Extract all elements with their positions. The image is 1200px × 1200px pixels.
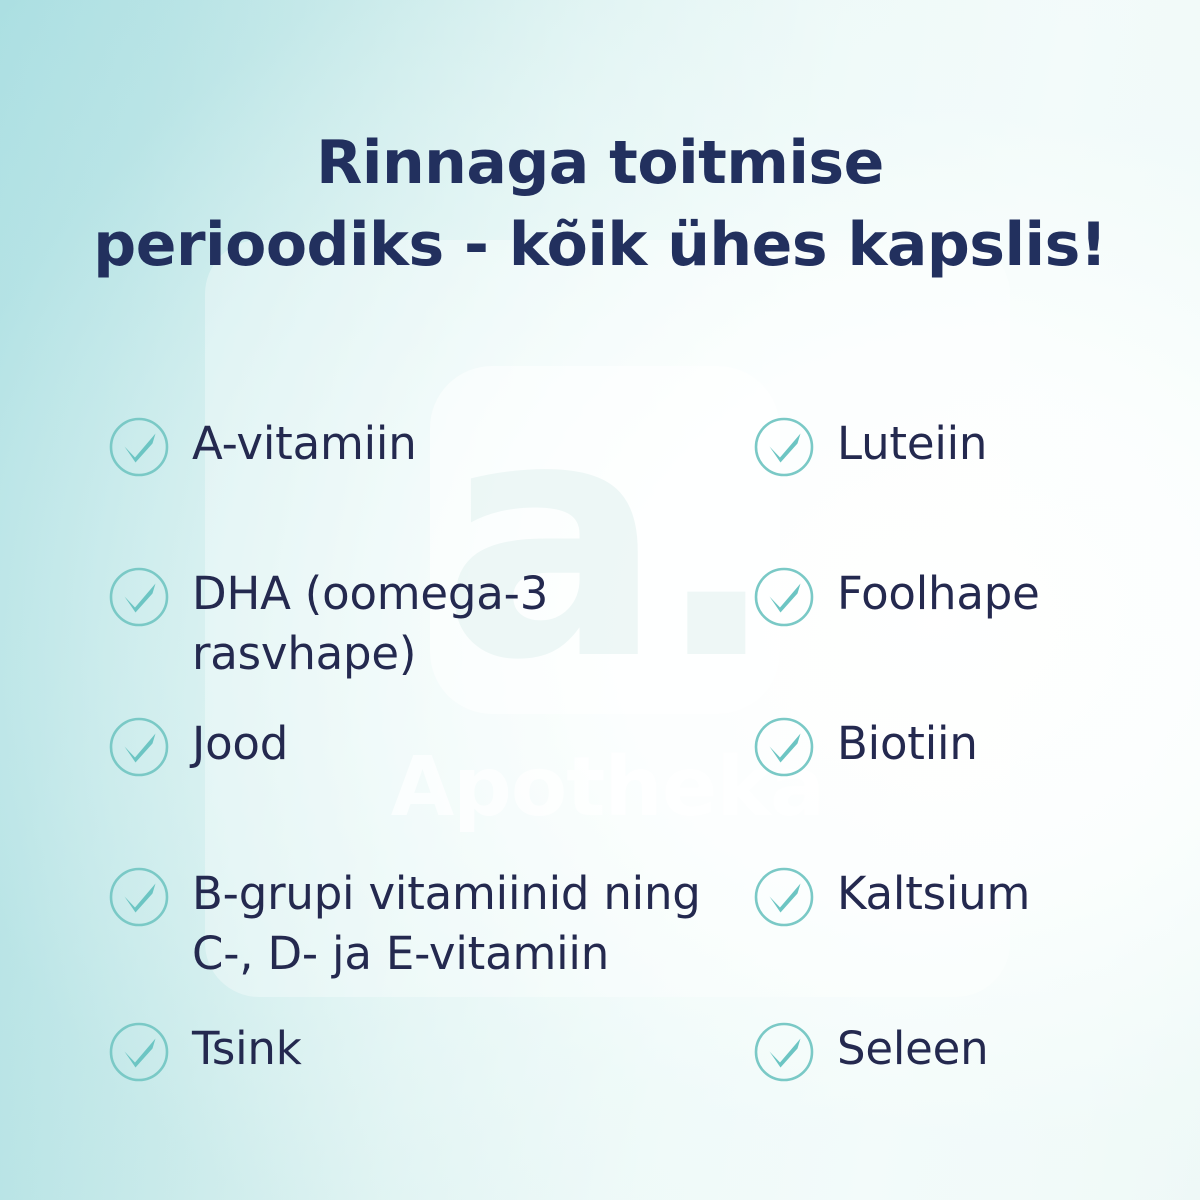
ingredient-checklist: A-vitamiin DHA (oomega-3 rasvhape) Jood …: [0, 0, 1200, 1200]
check-circle-icon: [753, 566, 815, 628]
list-item: Biotiin: [753, 714, 1163, 778]
check-circle-icon: [108, 866, 170, 928]
list-item-label: B-grupi vitamiinid ning C-, D- ja E-vita…: [192, 864, 701, 984]
list-item-label: A-vitamiin: [192, 414, 417, 474]
check-circle-icon: [753, 716, 815, 778]
list-item: A-vitamiin: [108, 414, 733, 478]
list-item: Tsink: [108, 1019, 733, 1083]
promo-poster: a. Apotheka Rinnaga toitmise perioodiks …: [0, 0, 1200, 1200]
list-item: Jood: [108, 714, 733, 778]
list-item-label: Kaltsium: [837, 864, 1030, 924]
list-item-label: Jood: [192, 714, 288, 774]
list-item-label: Seleen: [837, 1019, 988, 1079]
check-circle-icon: [753, 416, 815, 478]
list-item: DHA (oomega-3 rasvhape): [108, 564, 733, 684]
check-circle-icon: [753, 1021, 815, 1083]
list-item: Foolhape: [753, 564, 1163, 628]
check-circle-icon: [108, 716, 170, 778]
list-item-label: Biotiin: [837, 714, 978, 774]
list-item-label: Foolhape: [837, 564, 1040, 624]
list-item: Kaltsium: [753, 864, 1163, 928]
list-item-label: Luteiin: [837, 414, 987, 474]
list-item: Seleen: [753, 1019, 1163, 1083]
list-item-label: Tsink: [192, 1019, 302, 1079]
check-circle-icon: [108, 1021, 170, 1083]
list-item: B-grupi vitamiinid ning C-, D- ja E-vita…: [108, 864, 733, 984]
list-item: Luteiin: [753, 414, 1163, 478]
list-item-label: DHA (oomega-3 rasvhape): [192, 564, 548, 684]
check-circle-icon: [753, 866, 815, 928]
check-circle-icon: [108, 416, 170, 478]
check-circle-icon: [108, 566, 170, 628]
